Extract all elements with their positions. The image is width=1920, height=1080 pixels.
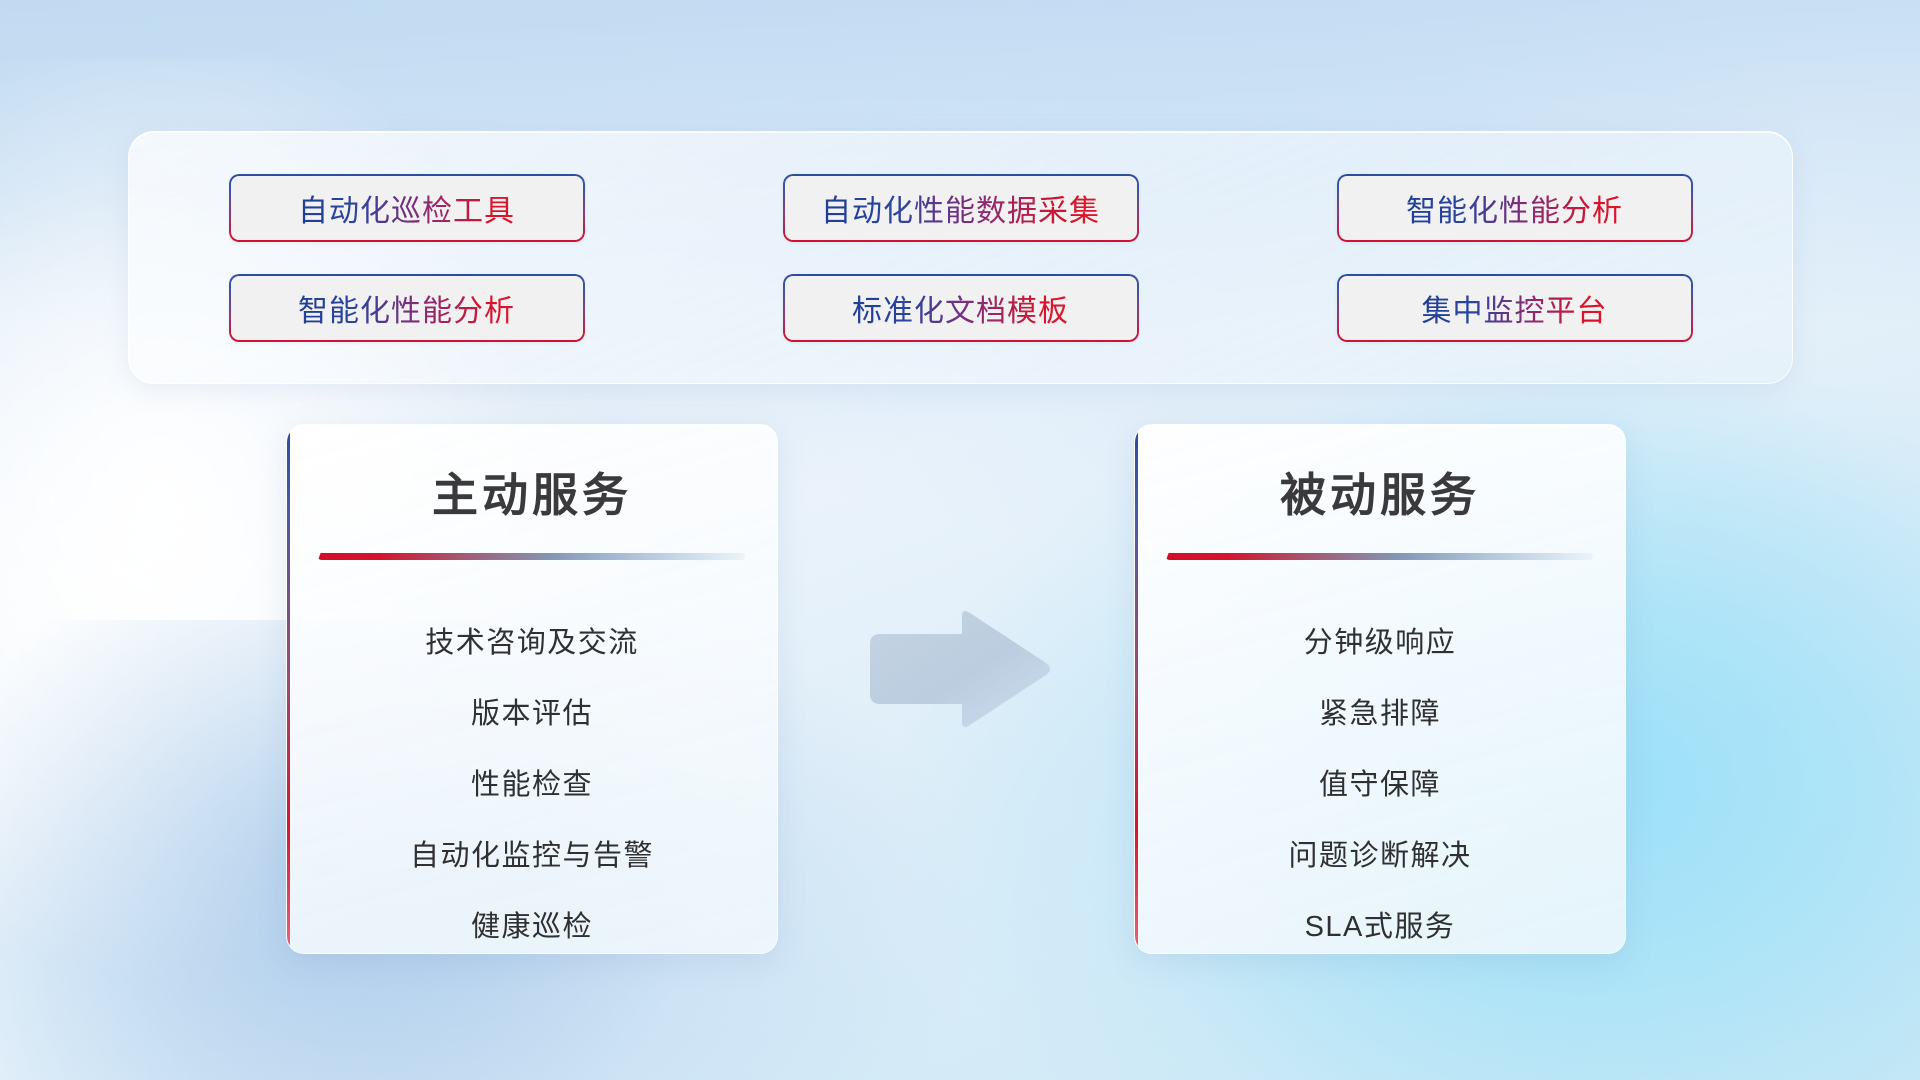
list-item: 版本评估 [311,679,753,750]
capability-chip[interactable]: 自动化巡检工具 [229,174,585,242]
capability-chip-label: 自动化巡检工具 [298,186,515,230]
list-item: 值守保障 [1159,750,1601,821]
capability-chip[interactable]: 集中监控平台 [1337,274,1693,342]
list-item: SLA式服务 [1159,892,1601,954]
capability-chip-label: 集中监控平台 [1422,286,1608,330]
service-item-list: 技术咨询及交流 版本评估 性能检查 自动化监控与告警 健康巡检 [287,608,777,954]
list-item: 问题诊断解决 [1159,821,1601,892]
list-item: 分钟级响应 [1159,608,1601,679]
capability-chip[interactable]: 自动化性能数据采集 [783,174,1139,242]
capability-grid: 自动化巡检工具 自动化性能数据采集 智能化性能分析 智能化性能分析 标准化文档模… [229,174,1693,342]
list-item: 技术咨询及交流 [311,608,753,679]
reactive-service-card: 被动服务 分钟级响应 紧急排障 值守保障 问题诊断解决 SLA式服务 [1134,424,1626,954]
card-title: 被动服务 [1135,459,1625,525]
list-item: 性能检查 [311,750,753,821]
capability-chip[interactable]: 智能化性能分析 [229,274,585,342]
proactive-service-card: 主动服务 技术咨询及交流 版本评估 性能检查 自动化监控与告警 健康巡检 [286,424,778,954]
list-item: 自动化监控与告警 [311,821,753,892]
capability-chip-label: 标准化文档模板 [852,286,1069,330]
list-item: 健康巡检 [311,892,753,954]
card-title-divider [1166,553,1594,560]
card-title: 主动服务 [287,459,777,525]
list-item: 紧急排障 [1159,679,1601,750]
capability-chip-label: 智能化性能分析 [298,286,515,330]
capability-panel: 自动化巡检工具 自动化性能数据采集 智能化性能分析 智能化性能分析 标准化文档模… [128,131,1793,384]
service-item-list: 分钟级响应 紧急排障 值守保障 问题诊断解决 SLA式服务 [1135,608,1625,954]
card-title-divider [318,553,746,560]
capability-chip-label: 智能化性能分析 [1406,186,1623,230]
capability-chip[interactable]: 标准化文档模板 [783,274,1139,342]
arrow-right-icon [866,608,1052,730]
capability-chip-label: 自动化性能数据采集 [821,186,1100,230]
capability-chip[interactable]: 智能化性能分析 [1337,174,1693,242]
